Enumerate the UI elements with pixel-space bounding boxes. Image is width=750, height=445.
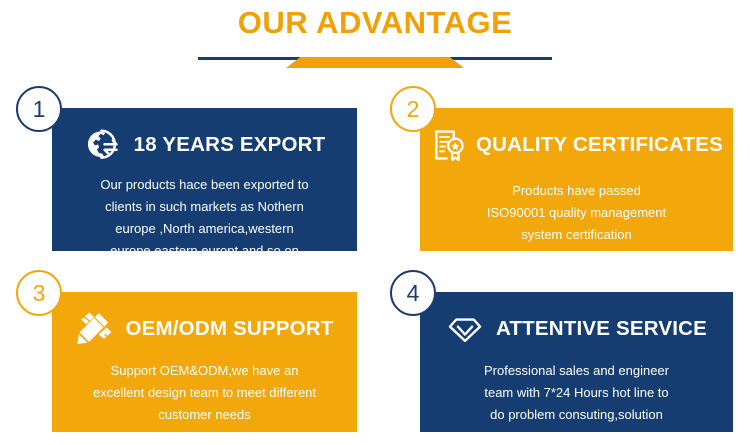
card-4-number: 4 xyxy=(407,282,420,305)
card-2-line-3: system certification xyxy=(432,224,721,246)
card-4-line-3: do problem consuting,solution xyxy=(432,404,721,426)
advantage-card-1: 18 YEARS EXPORT Our products hace been e… xyxy=(52,108,357,251)
page-title: OUR ADVANTAGE xyxy=(0,4,750,42)
infographic-page: OUR ADVANTAGE 18 YEARS EXPORT Ou xyxy=(0,0,750,445)
title-divider xyxy=(198,52,552,68)
card-3-body: Support OEM&ODM,we have an excellent des… xyxy=(56,360,353,426)
card-3-number-badge: 3 xyxy=(16,270,62,316)
card-2-number-badge: 2 xyxy=(390,86,436,132)
card-4-head: ATTENTIVE SERVICE xyxy=(420,310,733,348)
card-3-line-1: Support OEM&ODM,we have an xyxy=(56,360,353,382)
card-4-line-2: team with 7*24 Hours hot line to xyxy=(432,382,721,404)
advantage-card-3: OEM/ODM SUPPORT Support OEM&ODM,we have … xyxy=(52,292,357,432)
card-2-line-2: ISO90001 quality management xyxy=(432,202,721,224)
card-1-title: 18 YEARS EXPORT xyxy=(134,133,326,157)
card-1-line-4: europe,eastern europt and so on xyxy=(64,240,345,262)
card-4-number-badge: 4 xyxy=(390,270,436,316)
card-1-body: Our products hace been exported to clien… xyxy=(64,174,345,262)
card-1-head: 18 YEARS EXPORT xyxy=(52,126,357,164)
certificate-icon xyxy=(430,126,468,164)
pencil-ruler-icon xyxy=(75,310,113,348)
card-1-line-3: europe ,North america,western xyxy=(64,218,345,240)
card-4-title: ATTENTIVE SERVICE xyxy=(496,317,707,341)
header: OUR ADVANTAGE xyxy=(0,0,750,78)
card-3-line-2: excellent design team to meet different xyxy=(56,382,353,404)
card-4-body: Professional sales and engineer team wit… xyxy=(432,360,721,426)
card-4-line-1: Professional sales and engineer xyxy=(432,360,721,382)
card-2-title: QUALITY CERTIFICATES xyxy=(476,133,723,157)
diamond-check-icon xyxy=(446,310,484,348)
card-1-number-badge: 1 xyxy=(16,86,62,132)
card-2-head: QUALITY CERTIFICATES xyxy=(420,126,733,164)
card-1-line-2: clients in such markets as Nothern xyxy=(64,196,345,218)
card-1-number: 1 xyxy=(33,98,46,121)
divider-ornament-icon xyxy=(286,57,464,68)
advantage-card-2: QUALITY CERTIFICATES Products have passe… xyxy=(420,108,733,251)
globe-exchange-icon xyxy=(84,126,122,164)
card-2-line-1: Products have passed xyxy=(432,180,721,202)
card-2-body: Products have passed ISO90001 quality ma… xyxy=(432,180,721,246)
card-2-number: 2 xyxy=(407,98,420,121)
card-3-title: OEM/ODM SUPPORT xyxy=(125,317,333,341)
card-1-line-1: Our products hace been exported to xyxy=(64,174,345,196)
card-3-number: 3 xyxy=(33,282,46,305)
advantage-card-4: ATTENTIVE SERVICE Professional sales and… xyxy=(420,292,733,432)
card-3-line-3: customer needs xyxy=(56,404,353,426)
card-3-head: OEM/ODM SUPPORT xyxy=(52,310,357,348)
